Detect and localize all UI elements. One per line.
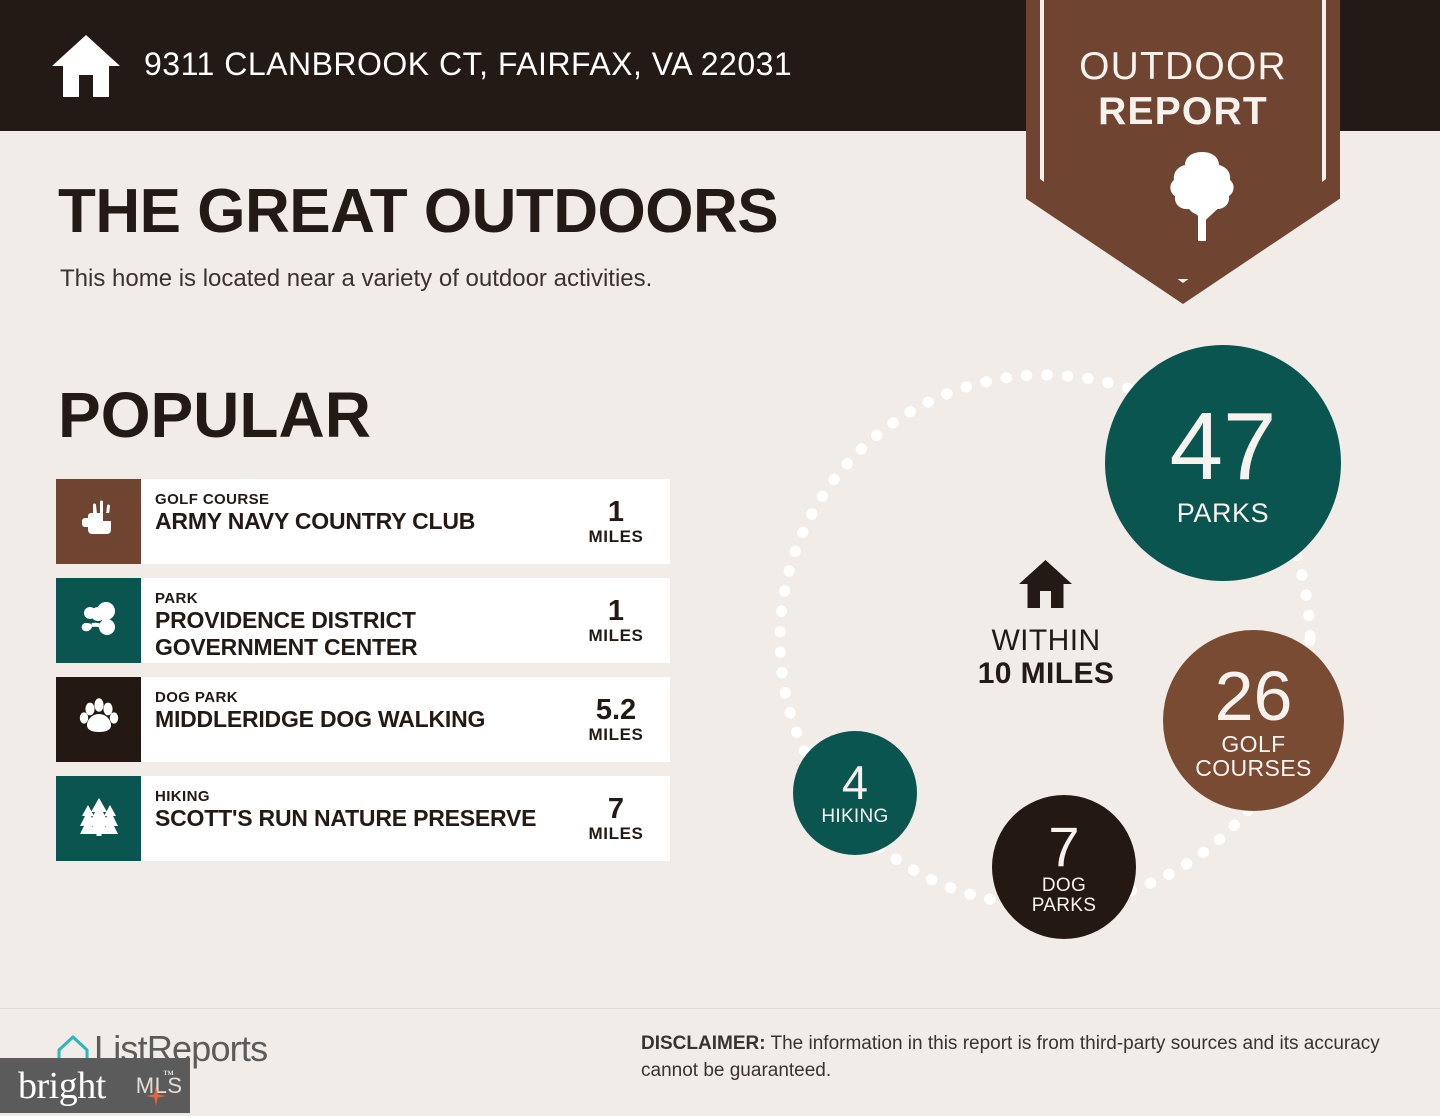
golf-bag-icon	[76, 496, 122, 547]
bubble-parks-label: PARKS	[1177, 499, 1270, 527]
poi-name: PROVIDENCE DISTRICT GOVERNMENT CENTER	[155, 607, 574, 661]
poi-icon-tile	[56, 677, 141, 762]
page-subtitle: This home is located near a variety of o…	[60, 265, 652, 293]
poi-distance-unit: MILES	[574, 527, 658, 547]
poi-icon-tile	[56, 479, 141, 564]
footer-divider	[0, 1008, 1440, 1009]
pine-trees-icon	[76, 793, 122, 844]
poi-name: ARMY NAVY COUNTRY CLUB	[155, 508, 574, 535]
popular-section-heading: POPULAR	[58, 378, 371, 452]
brightmls-tm: ™	[163, 1069, 173, 1081]
outdoor-amenities-bubble-chart: 47 PARKS 26 GOLF COURSES 7 DOG PARKS 4 H…	[760, 330, 1380, 970]
poi-name: MIDDLERIDGE DOG WALKING	[155, 706, 574, 733]
within-label-line2: 10 MILES	[940, 657, 1152, 691]
poi-distance-unit: MILES	[574, 725, 658, 745]
bubble-hiking-label: HIKING	[821, 807, 888, 827]
disclaimer: DISCLAIMER: The information in this repo…	[641, 1030, 1401, 1084]
brightmls-word-text: bright	[18, 1065, 106, 1107]
bubble-hiking[interactable]: 4 HIKING	[793, 731, 917, 855]
poi-text: HIKING SCOTT'S RUN NATURE PRESERVE	[141, 776, 574, 861]
poi-icon-tile	[56, 578, 141, 663]
park-trees-icon	[76, 595, 122, 646]
poi-distance-value: 7	[574, 794, 658, 824]
poi-text: PARK PROVIDENCE DISTRICT GOVERNMENT CENT…	[141, 578, 574, 663]
poi-distance: 1 MILES	[574, 578, 670, 663]
bubble-dog-count: 7	[1048, 819, 1079, 875]
poi-distance-value: 1	[574, 596, 658, 626]
list-item[interactable]: DOG PARK MIDDLERIDGE DOG WALKING 5.2 MIL…	[56, 677, 670, 762]
list-item[interactable]: HIKING SCOTT'S RUN NATURE PRESERVE 7 MIL…	[56, 776, 670, 861]
poi-distance-value: 1	[574, 497, 658, 527]
poi-distance-unit: MILES	[574, 824, 658, 844]
bubble-golf-label-line1: GOLF	[1221, 733, 1285, 757]
popular-list: GOLF COURSE ARMY NAVY COUNTRY CLUB 1 MIL…	[56, 479, 670, 875]
brightmls-wordmark: bright ™	[18, 1064, 106, 1108]
bubble-dog-label-line1: DOG	[1042, 876, 1086, 896]
home-icon	[1017, 558, 1074, 610]
bubble-dog-parks[interactable]: 7 DOG PARKS	[992, 795, 1136, 939]
poi-distance: 5.2 MILES	[574, 677, 670, 762]
poi-distance: 7 MILES	[574, 776, 670, 861]
brightmls-watermark: bright ™ MLS	[0, 1058, 190, 1113]
poi-text: GOLF COURSE ARMY NAVY COUNTRY CLUB	[141, 479, 574, 564]
poi-distance-value: 5.2	[574, 695, 658, 725]
poi-category: DOG PARK	[155, 689, 574, 706]
bubble-parks-count: 47	[1170, 399, 1277, 495]
bubble-dog-label-line2: PARKS	[1032, 896, 1097, 916]
disclaimer-label: DISCLAIMER:	[641, 1033, 766, 1054]
bubble-golf-label-line2: COURSES	[1195, 757, 1312, 781]
badge-title-line2: REPORT	[1026, 90, 1340, 134]
list-item[interactable]: GOLF COURSE ARMY NAVY COUNTRY CLUB 1 MIL…	[56, 479, 670, 564]
property-address: 9311 CLANBROOK CT, FAIRFAX, VA 22031	[144, 46, 792, 83]
paw-print-icon	[76, 694, 122, 745]
bubble-parks[interactable]: 47 PARKS	[1105, 345, 1341, 581]
bubble-golf-count: 26	[1215, 661, 1293, 731]
badge-title-line1: OUTDOOR	[1026, 45, 1340, 89]
poi-category: GOLF COURSE	[155, 491, 574, 508]
poi-distance: 1 MILES	[574, 479, 670, 564]
bubble-hiking-count: 4	[842, 759, 868, 806]
within-label-line1: WITHIN	[940, 624, 1152, 658]
poi-category: HIKING	[155, 788, 574, 805]
poi-category: PARK	[155, 590, 574, 607]
poi-name: SCOTT'S RUN NATURE PRESERVE	[155, 805, 574, 832]
page-title: THE GREAT OUTDOORS	[58, 176, 778, 247]
poi-icon-tile	[56, 776, 141, 861]
tree-icon	[1165, 148, 1239, 243]
list-item[interactable]: PARK PROVIDENCE DISTRICT GOVERNMENT CENT…	[56, 578, 670, 663]
poi-text: DOG PARK MIDDLERIDGE DOG WALKING	[141, 677, 574, 762]
poi-distance-unit: MILES	[574, 626, 658, 646]
bubble-golf-courses[interactable]: 26 GOLF COURSES	[1163, 630, 1344, 811]
home-icon	[50, 33, 122, 99]
